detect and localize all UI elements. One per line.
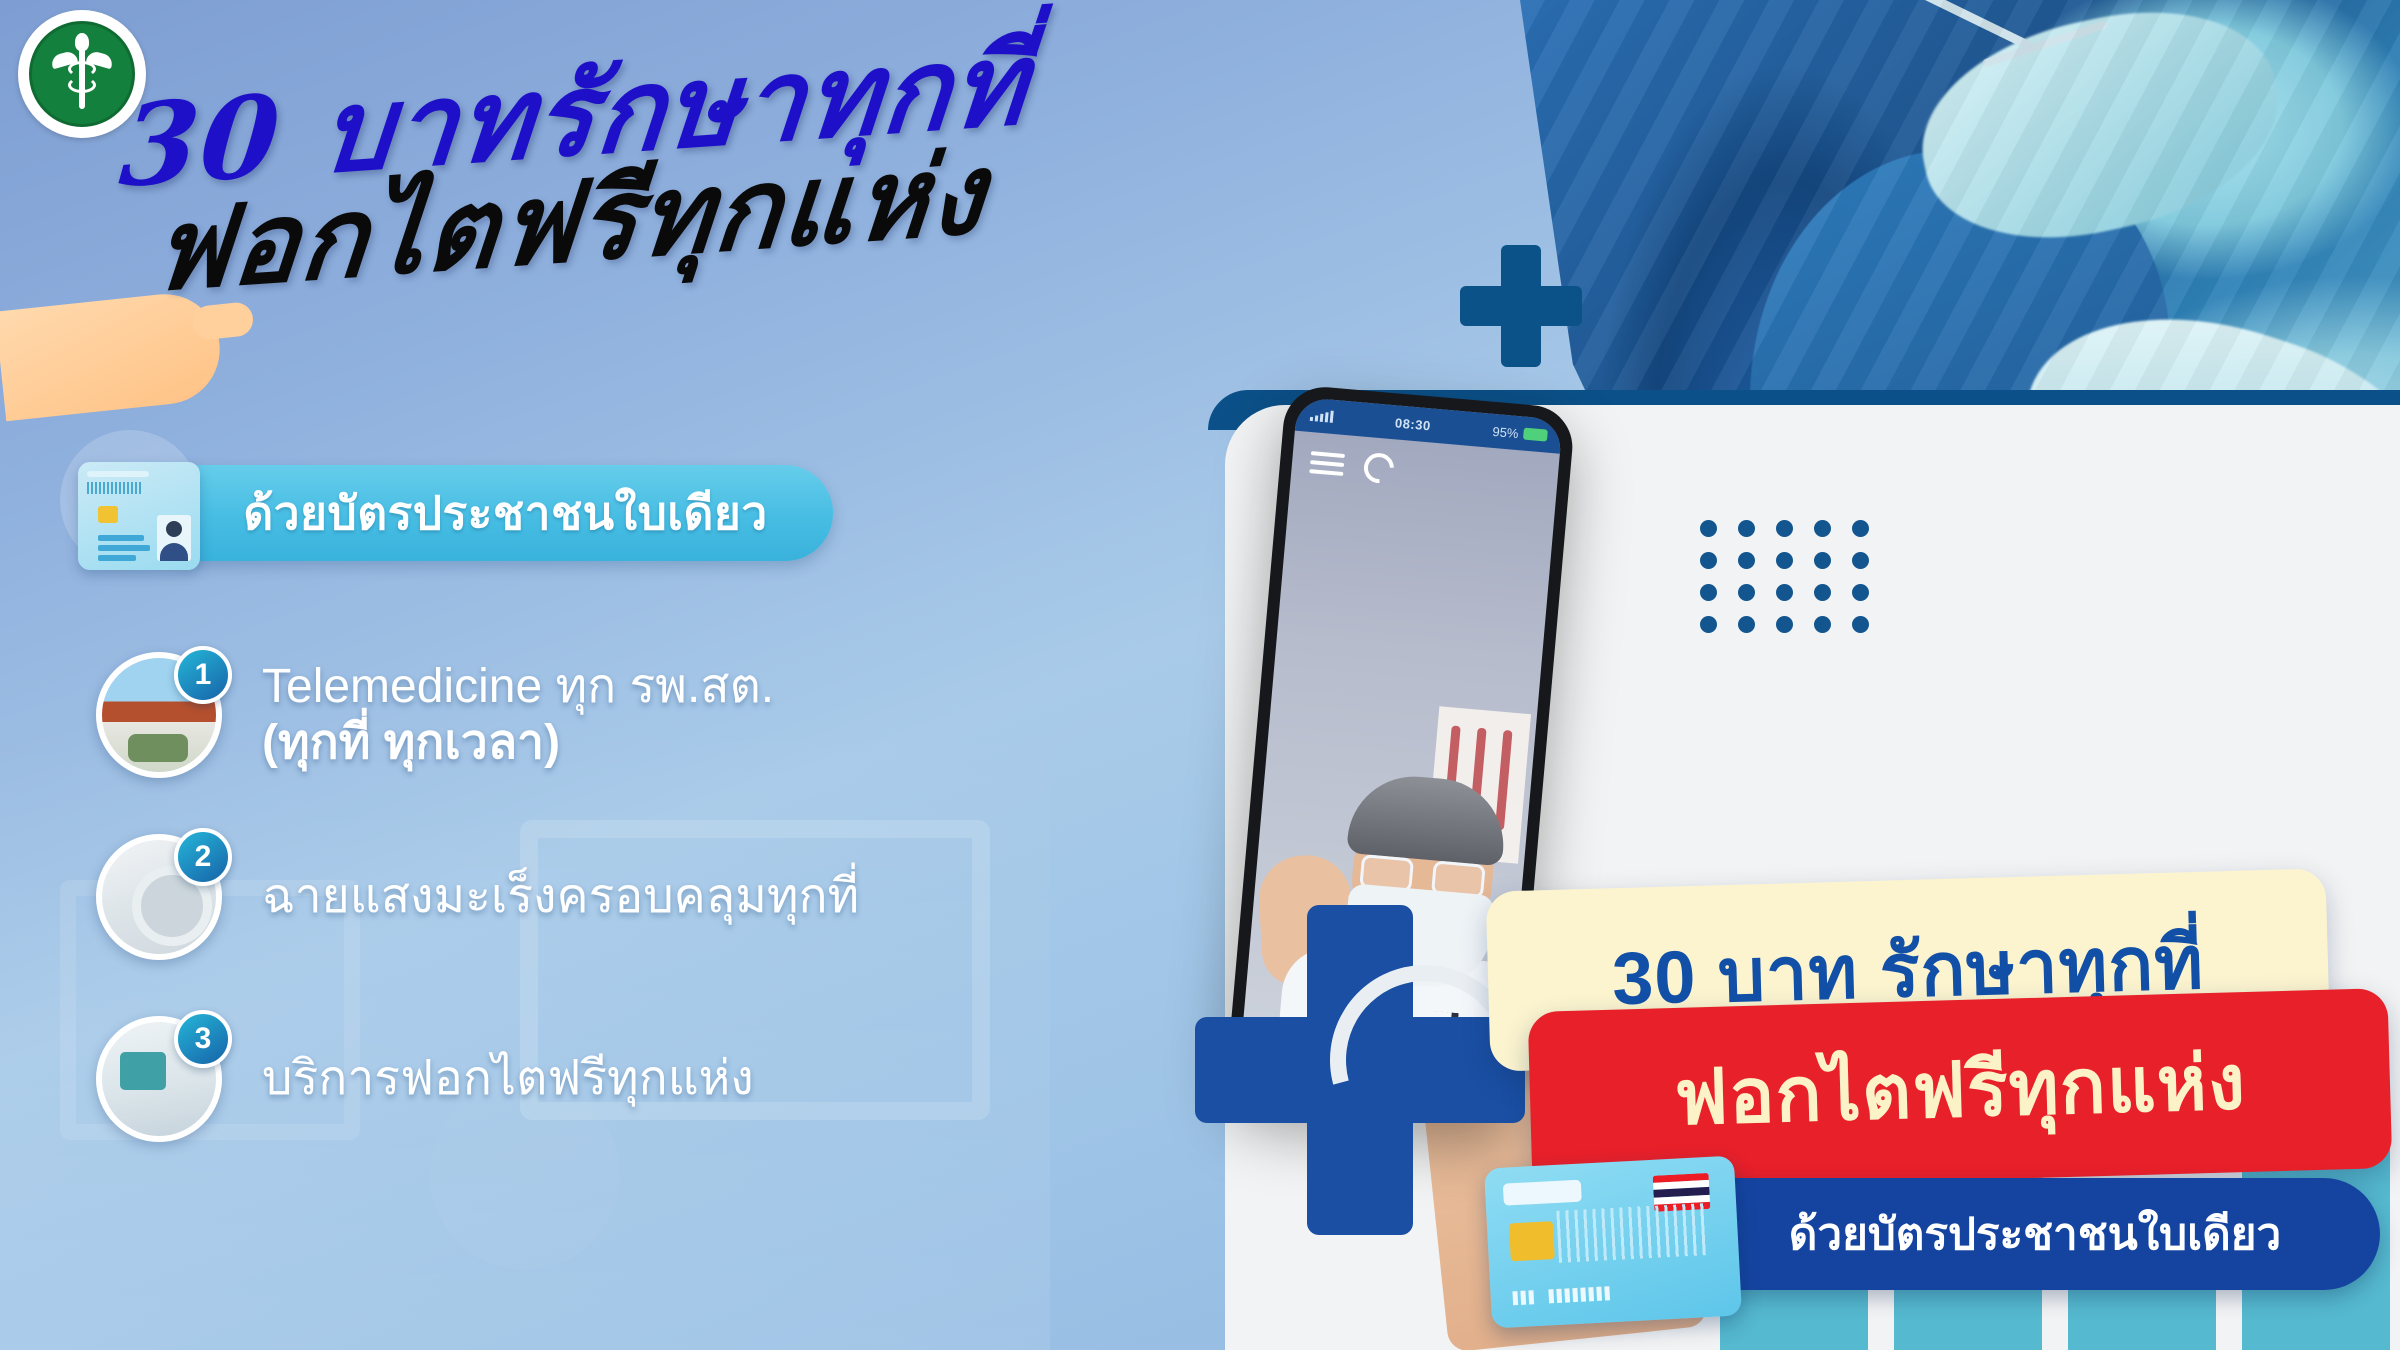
list-item-badge: 1 (174, 646, 232, 704)
list-item-thumb-wrap: 3 (96, 1016, 222, 1142)
hamburger-icon[interactable] (1309, 446, 1346, 481)
list-item-line-1: ฉายแสงมะเร็งครอบคลุมทุกที่ (262, 869, 859, 925)
list-item-thumb-wrap: 2 (96, 834, 222, 960)
callout-blue: ด้วยบัตรประชาชนใบเดียว (1690, 1178, 2380, 1290)
id-card-strip (1503, 1180, 1582, 1206)
list-item-text: Telemedicine ทุก รพ.สต. (ทุกที่ ทุกเวลา) (262, 659, 774, 770)
id-card-wave-pattern (1556, 1203, 1709, 1263)
list-item-badge: 3 (174, 1010, 232, 1068)
poster-canvas: 30 บาทรักษาทุกที่ ฟอกไตฟรีทุกแห่ง ด้วยบั… (0, 0, 2400, 1350)
list-item-text: บริการฟอกไตฟรีทุกแห่ง (262, 1051, 754, 1107)
id-card-photo (157, 515, 191, 561)
list-item-line-1: บริการฟอกไตฟรีทุกแห่ง (262, 1051, 754, 1107)
list-item: 2 ฉายแสงมะเร็งครอบคลุมทุกที่ (96, 834, 859, 960)
status-right: 95% (1492, 423, 1548, 443)
list-item-line-1: Telemedicine ทุก รพ.สต. (262, 659, 774, 715)
list-item-badge: 2 (174, 828, 232, 886)
callout-red-text: ฟอกไตฟรีทุกแห่ง (1672, 1022, 2247, 1158)
battery-percent: 95% (1492, 423, 1519, 440)
id-card-chip (1509, 1221, 1555, 1261)
medical-cross-icon (1460, 245, 1582, 367)
dot-grid-pattern (1700, 520, 1890, 648)
surgical-tool-1 (1896, 0, 2035, 51)
surgical-tool-2 (1982, 20, 2108, 68)
ribbon-text: ด้วยบัตรประชาชนใบเดียว (243, 477, 767, 550)
feature-list: 1 Telemedicine ทุก รพ.สต. (ทุกที่ ทุกเวล… (96, 652, 859, 1198)
surgical-glove-1 (1902, 0, 2298, 265)
ribbon-banner: ด้วยบัตรประชาชนใบเดียว (178, 465, 833, 561)
list-item: 1 Telemedicine ทุก รพ.สต. (ทุกที่ ทุกเวล… (96, 652, 859, 778)
caduceus-icon (55, 37, 109, 111)
list-item-line-2: (ทุกที่ ทุกเวลา) (262, 715, 774, 771)
id-card-chip (98, 506, 118, 523)
battery-icon (1523, 428, 1548, 442)
id-card-icon (78, 462, 200, 570)
list-item-text: ฉายแสงมะเร็งครอบคลุมทุกที่ (262, 869, 859, 925)
id-card-number-bars (1512, 1286, 1610, 1305)
signal-icon (1310, 409, 1334, 423)
list-item: 3 บริการฟอกไตฟรีทุกแห่ง (96, 1016, 859, 1142)
callout-blue-text: ด้วยบัตรประชาชนใบเดียว (1789, 1199, 2281, 1269)
status-time: 08:30 (1394, 415, 1431, 433)
refresh-icon[interactable] (1358, 447, 1400, 489)
main-headline: 30 บาทรักษาทุกที่ ฟอกไตฟรีทุกแห่ง (120, 60, 1029, 276)
list-item-thumb-wrap: 1 (96, 652, 222, 778)
id-card-icon-bottom (1484, 1156, 1742, 1329)
